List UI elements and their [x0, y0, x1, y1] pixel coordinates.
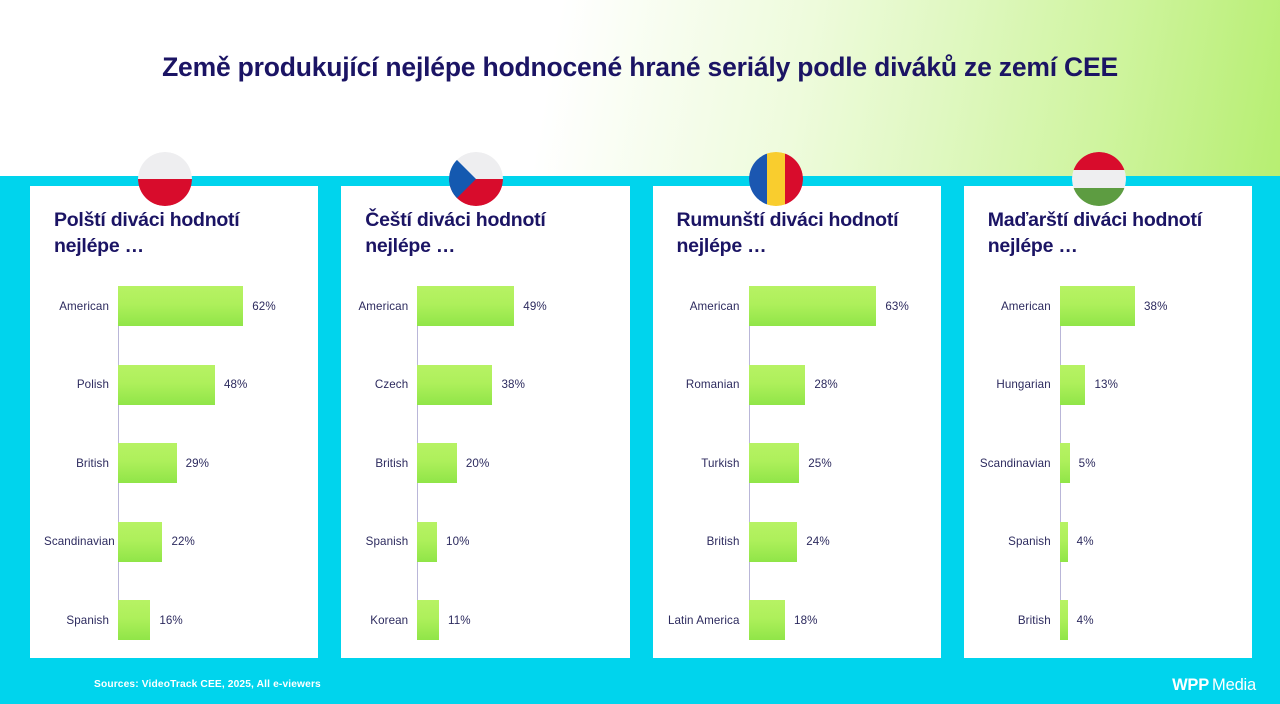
logo-media: Media: [1212, 676, 1256, 694]
bar-row: British 29%: [44, 443, 304, 483]
bar-track: 62%: [118, 286, 304, 326]
bar-category-label: British: [667, 535, 749, 548]
country-card-hungary[interactable]: Maďarští diváci hodnotí nejlépe … Americ…: [964, 186, 1252, 658]
bar-row: British 4%: [978, 600, 1238, 640]
hungary-flag-icon: [1072, 152, 1126, 206]
country-card-poland[interactable]: Polští diváci hodnotí nejlépe … American…: [30, 186, 318, 658]
country-card-czechia[interactable]: Čeští diváci hodnotí nejlépe … American …: [341, 186, 629, 658]
czech-flag-icon: [449, 152, 503, 206]
source-note: Sources: VideoTrack CEE, 2025, All e-vie…: [94, 679, 321, 690]
bar-value-label: 22%: [162, 535, 195, 548]
bar-category-label: British: [978, 614, 1060, 627]
bar-fill: [118, 443, 177, 483]
bar-fill: [1060, 286, 1135, 326]
bar-track: 38%: [417, 365, 615, 405]
romania-flag-icon: [749, 152, 803, 206]
card-title: Čeští diváci hodnotí nejlépe …: [355, 208, 615, 264]
bar-row: American 38%: [978, 286, 1238, 326]
bar-value-label: 48%: [215, 378, 248, 391]
bar-category-label: Spanish: [978, 535, 1060, 548]
bar-category-label: American: [667, 300, 749, 313]
bar-row: American 62%: [44, 286, 304, 326]
bar-value-label: 20%: [457, 457, 490, 470]
bar-track: 38%: [1060, 286, 1238, 326]
bar-value-label: 29%: [177, 457, 210, 470]
bar-value-label: 18%: [785, 614, 818, 627]
bar-track: 5%: [1060, 443, 1238, 483]
bar-fill: [1060, 365, 1086, 405]
bar-track: 49%: [417, 286, 615, 326]
bar-chart-poland: American 62% Polish 48% British: [44, 286, 304, 640]
bar-fill: [749, 365, 806, 405]
bar-row: Spanish 16%: [44, 600, 304, 640]
card-title: Rumunští diváci hodnotí nejlépe …: [667, 208, 927, 264]
bar-row: Spanish 10%: [355, 522, 615, 562]
page-title: Země produkující nejlépe hodnocené hrané…: [0, 52, 1280, 83]
bar-category-label: Polish: [44, 378, 118, 391]
bar-row: Scandinavian 22%: [44, 522, 304, 562]
bar-category-label: American: [355, 300, 417, 313]
bar-category-label: Scandinavian: [44, 535, 118, 548]
bar-value-label: 24%: [797, 535, 830, 548]
bar-category-label: Scandinavian: [978, 457, 1060, 470]
slide-root: Země produkující nejlépe hodnocené hrané…: [0, 0, 1280, 704]
bar-chart-romania: American 63% Romanian 28% Turkish: [667, 286, 927, 640]
country-card-romania[interactable]: Rumunští diváci hodnotí nejlépe … Americ…: [653, 186, 941, 658]
bar-category-label: Korean: [355, 614, 417, 627]
bar-value-label: 38%: [492, 378, 525, 391]
bar-category-label: British: [355, 457, 417, 470]
bar-value-label: 49%: [514, 300, 547, 313]
bar-row: Latin America 18%: [667, 600, 927, 640]
bar-fill: [417, 600, 439, 640]
bar-category-label: British: [44, 457, 118, 470]
card-title: Polští diváci hodnotí nejlépe …: [44, 208, 304, 264]
bar-category-label: Spanish: [44, 614, 118, 627]
bar-track: 4%: [1060, 522, 1238, 562]
bar-category-label: Turkish: [667, 457, 749, 470]
bar-category-label: Spanish: [355, 535, 417, 548]
bar-row: Romanian 28%: [667, 365, 927, 405]
bar-track: 20%: [417, 443, 615, 483]
bar-track: 4%: [1060, 600, 1238, 640]
bar-value-label: 38%: [1135, 300, 1168, 313]
bar-fill: [118, 522, 162, 562]
bar-row: Turkish 25%: [667, 443, 927, 483]
bar-fill: [118, 365, 215, 405]
bar-row: British 20%: [355, 443, 615, 483]
bar-value-label: 4%: [1068, 614, 1094, 627]
bar-row: Polish 48%: [44, 365, 304, 405]
bar-value-label: 63%: [876, 300, 909, 313]
bar-value-label: 28%: [805, 378, 838, 391]
bar-value-label: 4%: [1068, 535, 1094, 548]
bar-track: 18%: [749, 600, 927, 640]
bar-track: 24%: [749, 522, 927, 562]
bar-track: 22%: [118, 522, 304, 562]
bar-value-label: 62%: [243, 300, 276, 313]
bar-value-label: 25%: [799, 457, 832, 470]
bar-track: 63%: [749, 286, 927, 326]
bar-fill: [749, 443, 800, 483]
bar-fill: [749, 286, 877, 326]
bar-row: American 49%: [355, 286, 615, 326]
bar-row: Spanish 4%: [978, 522, 1238, 562]
bar-value-label: 11%: [439, 614, 471, 627]
cards-row: Polští diváci hodnotí nejlépe … American…: [30, 186, 1252, 658]
bar-category-label: Czech: [355, 378, 417, 391]
bar-fill: [417, 286, 514, 326]
card-title: Maďarští diváci hodnotí nejlépe …: [978, 208, 1238, 264]
bar-fill: [417, 365, 492, 405]
bar-track: 13%: [1060, 365, 1238, 405]
bar-fill: [749, 522, 798, 562]
bar-fill: [1060, 600, 1068, 640]
bar-row: American 63%: [667, 286, 927, 326]
logo-wpp: WPP: [1172, 676, 1209, 694]
bar-category-label: Romanian: [667, 378, 749, 391]
bar-row: British 24%: [667, 522, 927, 562]
bar-category-label: Hungarian: [978, 378, 1060, 391]
bar-fill: [1060, 443, 1070, 483]
bar-fill: [417, 522, 437, 562]
bar-fill: [118, 600, 150, 640]
bar-track: 29%: [118, 443, 304, 483]
bar-category-label: Latin America: [667, 614, 749, 627]
bar-row: Czech 38%: [355, 365, 615, 405]
bar-fill: [417, 443, 457, 483]
bar-fill: [1060, 522, 1068, 562]
bar-fill: [749, 600, 786, 640]
bar-value-label: 10%: [437, 535, 470, 548]
bar-track: 25%: [749, 443, 927, 483]
bar-category-label: American: [978, 300, 1060, 313]
bar-value-label: 13%: [1085, 378, 1118, 391]
bar-track: 11%: [417, 600, 615, 640]
bar-value-label: 5%: [1070, 457, 1096, 470]
bar-chart-czechia: American 49% Czech 38% British: [355, 286, 615, 640]
bar-track: 48%: [118, 365, 304, 405]
bar-row: Hungarian 13%: [978, 365, 1238, 405]
wpp-media-logo: WPPMedia: [1172, 676, 1256, 695]
bar-track: 16%: [118, 600, 304, 640]
bar-chart-hungary: American 38% Hungarian 13% Scandinavian: [978, 286, 1238, 640]
bar-track: 10%: [417, 522, 615, 562]
bar-fill: [118, 286, 243, 326]
bar-row: Scandinavian 5%: [978, 443, 1238, 483]
bar-category-label: American: [44, 300, 118, 313]
bar-row: Korean 11%: [355, 600, 615, 640]
poland-flag-icon: [138, 152, 192, 206]
bar-value-label: 16%: [150, 614, 183, 627]
bar-track: 28%: [749, 365, 927, 405]
